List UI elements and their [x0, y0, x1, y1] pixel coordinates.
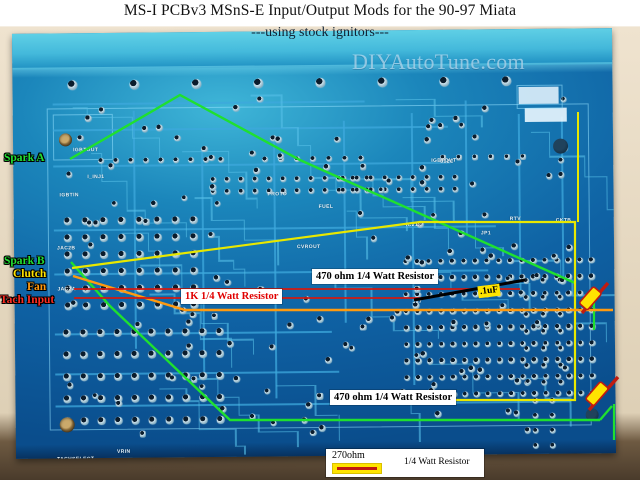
silkscreen-jac2b: JAC2B — [57, 245, 75, 251]
silkscreen-rtv: RTV — [510, 216, 521, 222]
legend-resistor-value: 270ohm — [332, 450, 365, 461]
pcb-mod-diagram: IGBTOUTIGBTINI_INJ1JAC2BJAC2APROTOFUELCV… — [0, 0, 640, 480]
silkscreen-cvrout: CVROUT — [297, 244, 321, 250]
page-subtitle: ---using stock ignitors--- — [0, 24, 640, 42]
pin-label-spark-a: Spark A — [4, 152, 45, 164]
silkscreen-j87: J87 — [413, 299, 423, 305]
pcb-board: IGBTOUTIGBTINI_INJ1JAC2BJAC2APROTOFUELCV… — [12, 28, 616, 459]
callout-2: 470 ohm 1/4 Watt Resistor — [330, 390, 456, 405]
silkscreen-igbtout: IGBTOUT — [73, 147, 98, 153]
legend-resistor-rating: 1/4 Watt Resistor — [404, 457, 470, 467]
legend-box: 270ohm 1/4 Watt Resistor — [326, 449, 484, 477]
silkscreen-igbtin: IGBTIN — [59, 192, 78, 198]
pin-label-fan: Fan — [27, 281, 46, 293]
page-title: MS-I PCBv3 MSnS-E Input/Output Mods for … — [0, 0, 640, 22]
resistor-color-swatch — [332, 463, 382, 474]
silkscreen-proto: PROTO — [267, 191, 287, 197]
silkscreen-vrin: VRIN — [117, 449, 131, 455]
pin-label-clutch: Clutch — [13, 268, 46, 280]
silkscreen-i_inj1: I_INJ1 — [87, 174, 104, 180]
watermark-text: DIYAutoTune.com — [352, 49, 525, 75]
silkscreen-fuel: FUEL — [319, 204, 334, 210]
silkscreen-jp1: JP1 — [481, 230, 491, 236]
callout-0: 470 ohm 1/4 Watt Resistor — [312, 269, 438, 284]
silkscreen-cktb: CKTB — [556, 218, 572, 224]
pin-label-spark-b: Spark B — [4, 255, 45, 267]
callout-1: 1K 1/4 Watt Resistor — [181, 289, 282, 304]
silkscreen-ic218: IC218 — [406, 222, 421, 228]
pin-label-tach-input: Tach Input — [0, 294, 54, 306]
silkscreen-812c: 812C — [440, 159, 454, 165]
silkscreen-jac2a: JAC2A — [57, 286, 75, 292]
